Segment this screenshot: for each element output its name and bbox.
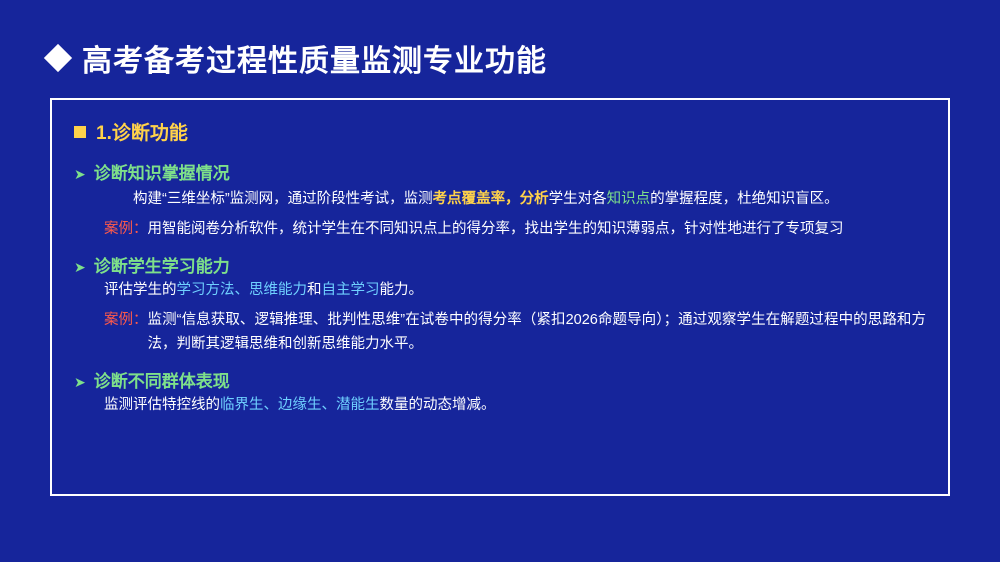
paragraph-2-part3: 能力。: [380, 282, 424, 298]
sub-heading-2: ➤ 诊断学生学习能力: [74, 252, 926, 277]
sub-heading-2-label: 诊断学生学习能力: [94, 252, 230, 277]
square-bullet-icon: [74, 126, 86, 138]
section-heading: 1.诊断功能: [74, 118, 926, 145]
case-text-1: 用智能阅卷分析软件，统计学生在不同知识点上的得分率，找出学生的知识薄弱点，针对性…: [148, 218, 844, 242]
paragraph-3: 监测评估特控线的临界生、边缘生、潜能生数量的动态增减。: [104, 394, 926, 418]
paragraph-1-highlight2: 分析: [520, 191, 549, 207]
case-label-1: 案例：: [104, 218, 148, 242]
slide-root: 高考备考过程性质量监测专业功能 1.诊断功能 ➤ 诊断知识掌握情况 构建“三维坐…: [0, 0, 1000, 562]
paragraph-2: 评估学生的学习方法、思维能力和自主学习能力。: [104, 279, 926, 303]
paragraph-2-part1: 评估学生的: [104, 282, 177, 298]
paragraph-3-highlight1: 临界生、边缘生、潜能生: [220, 397, 380, 413]
case-label-2: 案例：: [104, 309, 148, 357]
case-text-2: 监测“信息获取、逻辑推理、批判性思维”在试卷中的得分率（紧扣2026命题导向）；…: [148, 309, 927, 357]
paragraph-3-part2: 数量的动态增减。: [380, 397, 496, 413]
paragraph-2-highlight1: 学习方法、思维能力: [177, 282, 308, 298]
case-block-2: 案例： 监测“信息获取、逻辑推理、批判性思维”在试卷中的得分率（紧扣2026命题…: [104, 309, 926, 357]
arrow-right-icon: ➤: [74, 167, 86, 181]
paragraph-2-highlight2: 自主学习: [322, 282, 380, 298]
case-block-1: 案例： 用智能阅卷分析软件，统计学生在不同知识点上的得分率，找出学生的知识薄弱点…: [104, 218, 926, 242]
paragraph-2-part2: 和: [307, 282, 322, 298]
sub-heading-1-label: 诊断知识掌握情况: [94, 159, 230, 184]
sub-heading-3: ➤ 诊断不同群体表现: [74, 367, 926, 392]
section-heading-label: 1.诊断功能: [96, 118, 188, 145]
paragraph-3-part1: 监测评估特控线的: [104, 397, 220, 413]
sub-heading-1: ➤ 诊断知识掌握情况: [74, 159, 926, 184]
paragraph-1: 构建“三维坐标”监测网，通过阶段性考试，监测考点覆盖率，分析学生对各知识点的掌握…: [104, 188, 926, 212]
arrow-right-icon: ➤: [74, 260, 86, 274]
paragraph-1-highlight1: 考点覆盖率，: [433, 191, 520, 207]
page-title: 高考备考过程性质量监测专业功能: [82, 36, 547, 80]
slide-title-row: 高考备考过程性质量监测专业功能: [48, 36, 547, 80]
arrow-right-icon: ➤: [74, 375, 86, 389]
paragraph-1-highlight3: 知识点: [607, 191, 651, 207]
paragraph-1-part2: 学生对各: [549, 191, 607, 207]
sub-heading-3-label: 诊断不同群体表现: [94, 367, 230, 392]
paragraph-1-part3: 的掌握程度，杜绝知识盲区。: [650, 191, 839, 207]
diamond-icon: [44, 44, 72, 72]
paragraph-1-part1: 构建“三维坐标”监测网，通过阶段性考试，监测: [133, 191, 433, 207]
content-panel: 1.诊断功能 ➤ 诊断知识掌握情况 构建“三维坐标”监测网，通过阶段性考试，监测…: [50, 98, 950, 496]
